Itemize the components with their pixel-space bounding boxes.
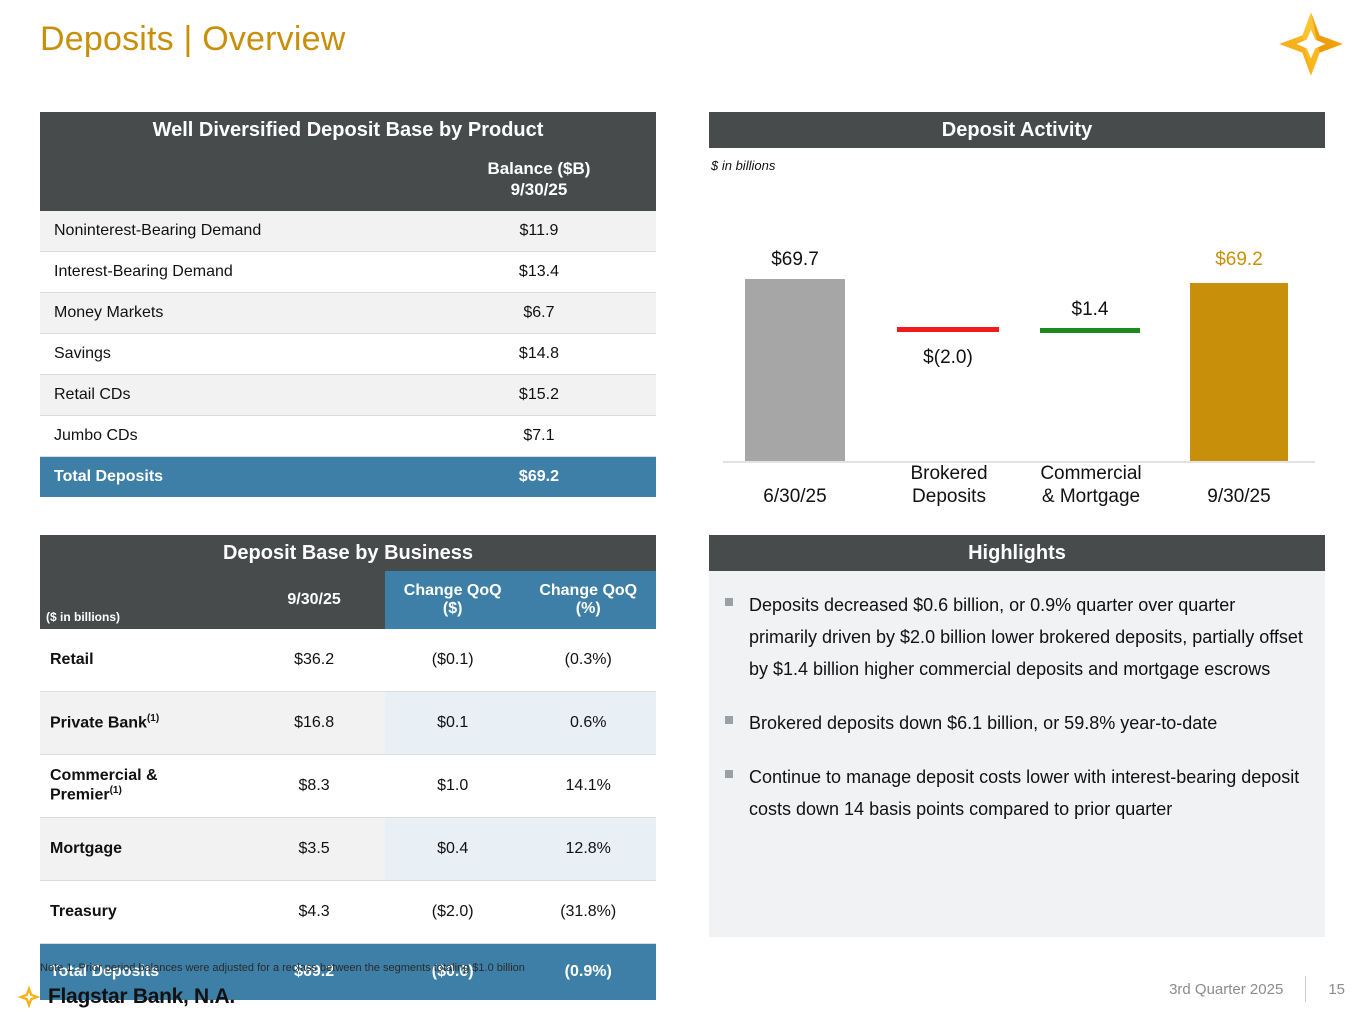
- row-change-pct: (31.8%): [520, 881, 656, 944]
- table-row: Commercial & Premier(1) $8.3 $1.0 14.1%: [40, 755, 656, 818]
- row-value: $16.8: [243, 692, 385, 755]
- product-total-row: Total Deposits $69.2: [40, 456, 656, 497]
- total-label: Total Deposits: [40, 456, 422, 497]
- row-label: Private Bank(1): [40, 692, 243, 755]
- chart-value-label-closing: $69.2: [1187, 249, 1291, 271]
- table-row: Treasury $4.3 ($2.0) (31.8%): [40, 881, 656, 944]
- table-row: Savings $14.8: [40, 333, 656, 374]
- chart-value-label-brokered: $(2.0): [889, 347, 1007, 369]
- business-panel-title: Deposit Base by Business: [40, 535, 656, 571]
- highlight-text: Deposits decreased $0.6 billion, or 0.9%…: [749, 589, 1303, 685]
- footer-quarter: 3rd Quarter 2025: [1169, 981, 1283, 998]
- chart-bar-closing: [1190, 283, 1288, 461]
- table-row: Retail CDs $15.2: [40, 374, 656, 415]
- table-row: Private Bank(1) $16.8 $0.1 0.6%: [40, 692, 656, 755]
- chart-x-label-commercial: Commercial & Mortgage: [1021, 462, 1161, 510]
- row-value: $8.3: [243, 755, 385, 818]
- table-row: Interest-Bearing Demand $13.4: [40, 251, 656, 292]
- row-balance: $6.7: [422, 292, 656, 333]
- chart-connector-commercial: [1040, 328, 1140, 333]
- business-header-change-pct: Change QoQ (%): [520, 571, 656, 629]
- row-label: Retail CDs: [40, 374, 422, 415]
- row-change-pct: 0.6%: [520, 692, 656, 755]
- table-row: Noninterest-Bearing Demand $11.9: [40, 211, 656, 252]
- row-change-dollar: ($2.0): [385, 881, 521, 944]
- footer-divider: [1305, 976, 1306, 1002]
- list-item: Deposits decreased $0.6 billion, or 0.9%…: [725, 589, 1303, 685]
- row-value: $4.3: [243, 881, 385, 944]
- deposit-base-by-business-panel: Deposit Base by Business ($ in billions)…: [40, 535, 656, 1000]
- chart-axis-line: [723, 461, 1315, 463]
- row-label: Interest-Bearing Demand: [40, 251, 422, 292]
- row-change-pct: 12.8%: [520, 818, 656, 881]
- table-row: Jumbo CDs $7.1: [40, 415, 656, 456]
- business-table-header-row: ($ in billions) 9/30/25 Change QoQ ($) C…: [40, 571, 656, 629]
- highlight-text: Brokered deposits down $6.1 billion, or …: [749, 707, 1217, 739]
- chart-x-label-brokered: Brokered Deposits: [881, 462, 1017, 510]
- row-label: Noninterest-Bearing Demand: [40, 211, 422, 252]
- change-pct-line2: (%): [576, 600, 601, 617]
- row-balance: $14.8: [422, 333, 656, 374]
- highlights-panel: Highlights Deposits decreased $0.6 billi…: [709, 535, 1325, 937]
- row-change-dollar: ($0.1): [385, 629, 521, 692]
- chart-panel-title: Deposit Activity: [709, 112, 1325, 148]
- row-change-dollar: $1.0: [385, 755, 521, 818]
- chart-value-label-opening: $69.7: [745, 249, 845, 271]
- flagstar-star-icon: [1275, 8, 1347, 80]
- row-change-pct: (0.3%): [520, 629, 656, 692]
- chart-subtitle: $ in billions: [711, 158, 1325, 173]
- product-table-header-blank: [40, 148, 422, 211]
- row-label: Savings: [40, 333, 422, 374]
- product-panel-title: Well Diversified Deposit Base by Product: [40, 112, 656, 148]
- row-label: Treasury: [40, 881, 243, 944]
- product-table-header-balance: Balance ($B) 9/30/25: [422, 148, 656, 211]
- row-value: $36.2: [243, 629, 385, 692]
- row-value: $3.5: [243, 818, 385, 881]
- row-label-text: Retail: [50, 651, 94, 668]
- chart-x-label-line: Commercial: [1040, 463, 1141, 484]
- footer-meta: 3rd Quarter 2025 15: [1169, 976, 1345, 1002]
- page-title: Deposits | Overview: [40, 20, 346, 59]
- deposit-activity-panel: Deposit Activity $ in billions $69.7 6/3…: [709, 112, 1325, 509]
- row-label: Money Markets: [40, 292, 422, 333]
- table-row: Money Markets $6.7: [40, 292, 656, 333]
- row-change-dollar: $0.4: [385, 818, 521, 881]
- chart-connector-brokered: [897, 327, 999, 332]
- chart-bar-opening: [745, 279, 845, 461]
- row-label-text: Commercial & Premier: [50, 767, 158, 804]
- row-label-text: Mortgage: [50, 840, 122, 857]
- chart-x-label-closing: 9/30/25: [1171, 485, 1307, 509]
- change-dollar-line1: Change QoQ: [404, 582, 502, 599]
- row-label-text: Private Bank: [50, 714, 147, 731]
- waterfall-chart: $69.7 6/30/25 $(2.0) Brokered Deposits $…: [709, 179, 1325, 509]
- page-number: 15: [1328, 981, 1345, 998]
- row-footnote: (1): [110, 785, 122, 796]
- chart-x-label-line: Brokered: [910, 463, 987, 484]
- row-balance: $11.9: [422, 211, 656, 252]
- business-table: ($ in billions) 9/30/25 Change QoQ ($) C…: [40, 571, 656, 1000]
- list-item: Brokered deposits down $6.1 billion, or …: [725, 707, 1303, 739]
- chart-x-label-opening: 6/30/25: [725, 485, 865, 509]
- row-change-pct: 14.1%: [520, 755, 656, 818]
- row-balance: $15.2: [422, 374, 656, 415]
- product-table: Balance ($B) 9/30/25 Noninterest-Bearing…: [40, 148, 656, 497]
- chart-x-label-line: Deposits: [912, 486, 986, 507]
- row-footnote: (1): [147, 713, 159, 724]
- highlight-text: Continue to manage deposit costs lower w…: [749, 761, 1303, 825]
- business-unit-label: ($ in billions): [40, 571, 243, 629]
- chart-x-label-line: 6/30/25: [763, 486, 826, 507]
- highlights-body: Deposits decreased $0.6 billion, or 0.9%…: [709, 571, 1325, 937]
- footer-brand: Flagstar Bank, N.A.: [16, 984, 235, 1010]
- change-pct-line1: Change QoQ: [539, 582, 637, 599]
- chart-value-label-commercial: $1.4: [1030, 299, 1150, 321]
- footnote-note-1: Note 1: Prior period balances were adjus…: [40, 962, 525, 974]
- chart-x-label-line: 9/30/25: [1207, 486, 1270, 507]
- row-label: Retail: [40, 629, 243, 692]
- row-label: Commercial & Premier(1): [40, 755, 243, 818]
- bullet-square-icon: [725, 770, 733, 778]
- table-row: Retail $36.2 ($0.1) (0.3%): [40, 629, 656, 692]
- highlights-panel-title: Highlights: [709, 535, 1325, 571]
- row-label-text: Treasury: [50, 903, 117, 920]
- product-table-header-row: Balance ($B) 9/30/25: [40, 148, 656, 211]
- row-label: Jumbo CDs: [40, 415, 422, 456]
- row-balance: $13.4: [422, 251, 656, 292]
- footer-brand-name: Flagstar Bank, N.A.: [48, 985, 235, 1009]
- row-label: Mortgage: [40, 818, 243, 881]
- total-change-pct: (0.9%): [520, 944, 656, 1001]
- row-balance: $7.1: [422, 415, 656, 456]
- business-header-change-dollar: Change QoQ ($): [385, 571, 521, 629]
- change-dollar-line2: ($): [443, 600, 463, 617]
- flagstar-star-icon: [16, 984, 42, 1010]
- list-item: Continue to manage deposit costs lower w…: [725, 761, 1303, 825]
- balance-header-line1: Balance ($B): [487, 159, 590, 178]
- table-row: Mortgage $3.5 $0.4 12.8%: [40, 818, 656, 881]
- business-header-date: 9/30/25: [243, 571, 385, 629]
- row-change-dollar: $0.1: [385, 692, 521, 755]
- bullet-square-icon: [725, 598, 733, 606]
- total-balance: $69.2: [422, 456, 656, 497]
- balance-header-line2: 9/30/25: [511, 180, 568, 199]
- bullet-square-icon: [725, 716, 733, 724]
- chart-x-label-line: & Mortgage: [1042, 486, 1140, 507]
- deposit-base-by-product-panel: Well Diversified Deposit Base by Product…: [40, 112, 656, 497]
